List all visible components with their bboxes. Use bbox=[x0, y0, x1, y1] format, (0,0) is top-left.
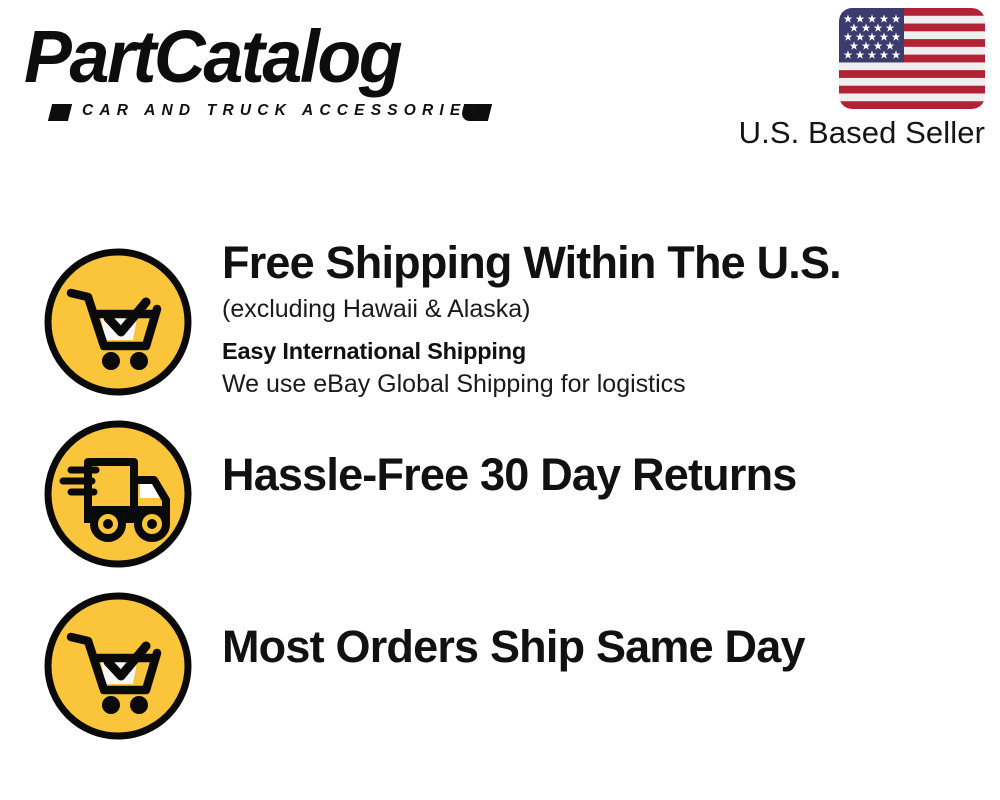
feature-row: Most Orders Ship Same Day bbox=[0, 584, 1000, 748]
brand-tagline: CAR AND TRUCK ACCESSORIES bbox=[82, 102, 483, 120]
brand-logo: PartCatalog CAR AND TRUCK ACCESSORIES bbox=[24, 18, 494, 118]
us-based-seller-badge: U.S. Based Seller bbox=[715, 8, 985, 151]
feature-text-block: Free Shipping Within The U.S. (excluding… bbox=[222, 236, 990, 401]
logo-rule-left bbox=[48, 104, 72, 121]
us-flag-icon bbox=[839, 8, 985, 109]
feature-text-block: Hassle-Free 30 Day Returns bbox=[222, 448, 990, 502]
feature-note: (excluding Hawaii & Alaska) bbox=[222, 293, 990, 326]
feature-sub-heading: Easy International Shipping bbox=[222, 335, 990, 368]
banner-header: PartCatalog CAR AND TRUCK ACCESSORIES bbox=[0, 0, 1000, 170]
feature-text-block: Most Orders Ship Same Day bbox=[222, 620, 990, 674]
delivery-truck-icon bbox=[42, 418, 194, 570]
shopping-cart-check-icon bbox=[42, 590, 194, 742]
shopping-cart-check-icon bbox=[42, 246, 194, 398]
feature-row: Hassle-Free 30 Day Returns bbox=[0, 412, 1000, 576]
feature-sub-text: We use eBay Global Shipping for logistic… bbox=[222, 368, 990, 401]
feature-title: Free Shipping Within The U.S. bbox=[222, 236, 990, 290]
promo-banner: PartCatalog CAR AND TRUCK ACCESSORIES bbox=[0, 0, 1000, 800]
feature-row: Free Shipping Within The U.S. (excluding… bbox=[0, 240, 1000, 404]
seller-label: U.S. Based Seller bbox=[715, 115, 985, 151]
feature-title: Most Orders Ship Same Day bbox=[222, 620, 990, 674]
feature-title: Hassle-Free 30 Day Returns bbox=[222, 448, 990, 502]
brand-wordmark: PartCatalog bbox=[24, 18, 400, 96]
